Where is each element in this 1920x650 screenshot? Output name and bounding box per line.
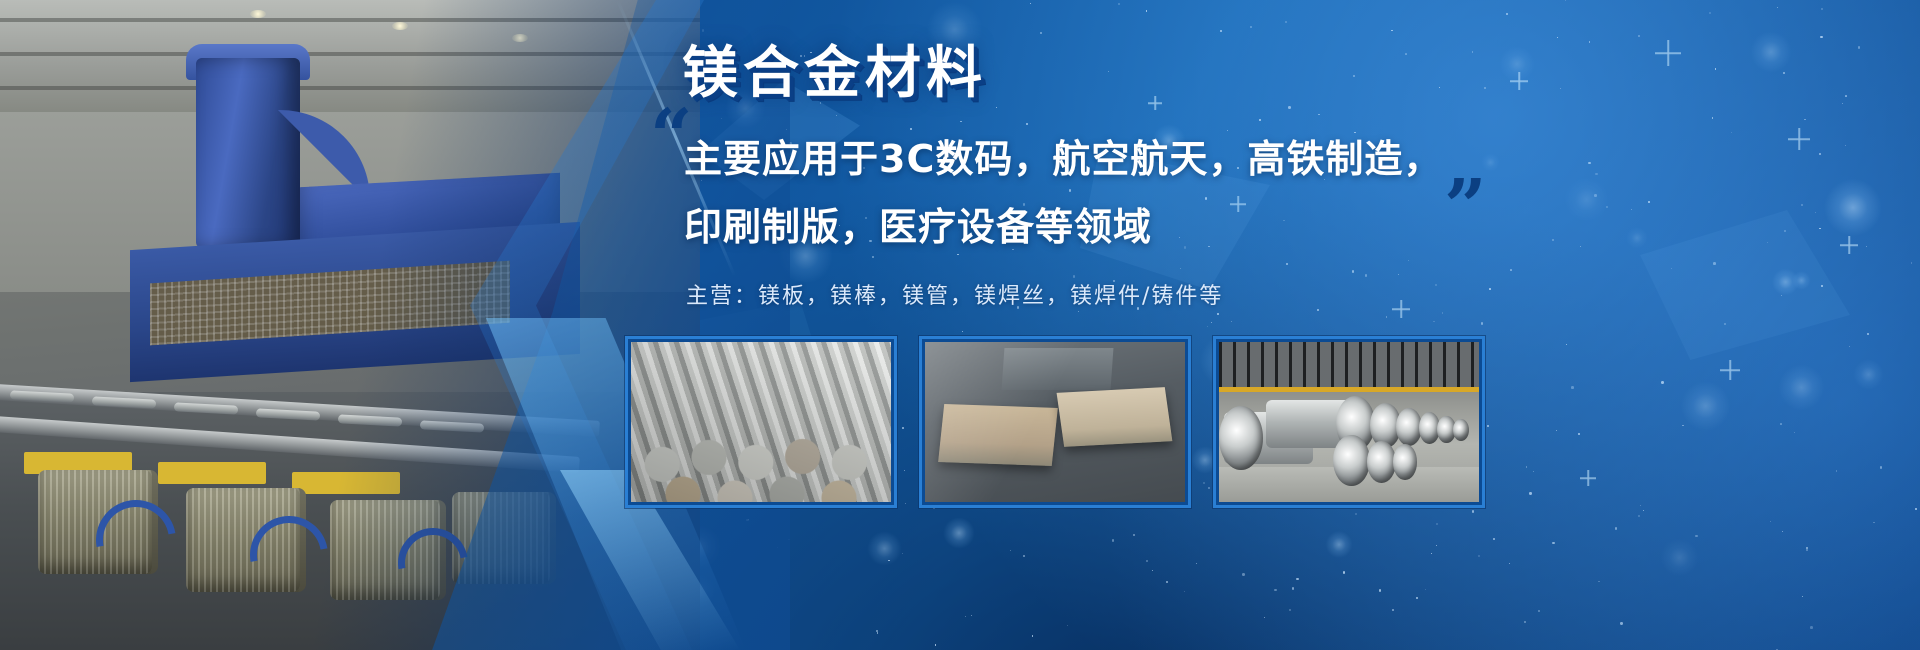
star-dot [1915,508,1918,511]
hero-banner: 镁合金材料 “ 主要应用于3C数码，航空航天，高铁制造， 印刷制版，医疗设备等领… [0,0,1920,650]
coil-end [1367,441,1396,483]
product-thumbnail-coils[interactable] [1213,336,1485,508]
product-thumbnail-bars[interactable] [625,336,897,508]
bars-shading [631,342,891,502]
main-products-text: 主营：镁板，镁棒，镁管，镁焊丝，镁焊件/铸件等 [686,278,1223,310]
product-thumbnail-plates[interactable] [919,336,1191,508]
subtitle-line-1: 主要应用于3C数码，航空航天，高铁制造， [684,140,1442,178]
coil-end [1396,408,1422,446]
warehouse-crane-beam [1219,387,1479,392]
coil-end [1393,444,1416,479]
page-title: 镁合金材料 [682,46,987,102]
quote-close-mark: ” [1444,178,1487,237]
coil-end [1219,406,1263,470]
product-thumbnail-list [625,336,1855,516]
warehouse-roof [1219,342,1479,390]
plates-shading [925,342,1185,502]
subtitle-line-2: 印刷制版，医疗设备等领域 [684,208,1152,246]
star-dot [1911,262,1913,264]
coil-end [1453,419,1469,441]
coil-end [1333,435,1369,486]
banner-content: 镁合金材料 “ 主要应用于3C数码，航空航天，高铁制造， 印刷制版，医疗设备等领… [660,0,1900,650]
